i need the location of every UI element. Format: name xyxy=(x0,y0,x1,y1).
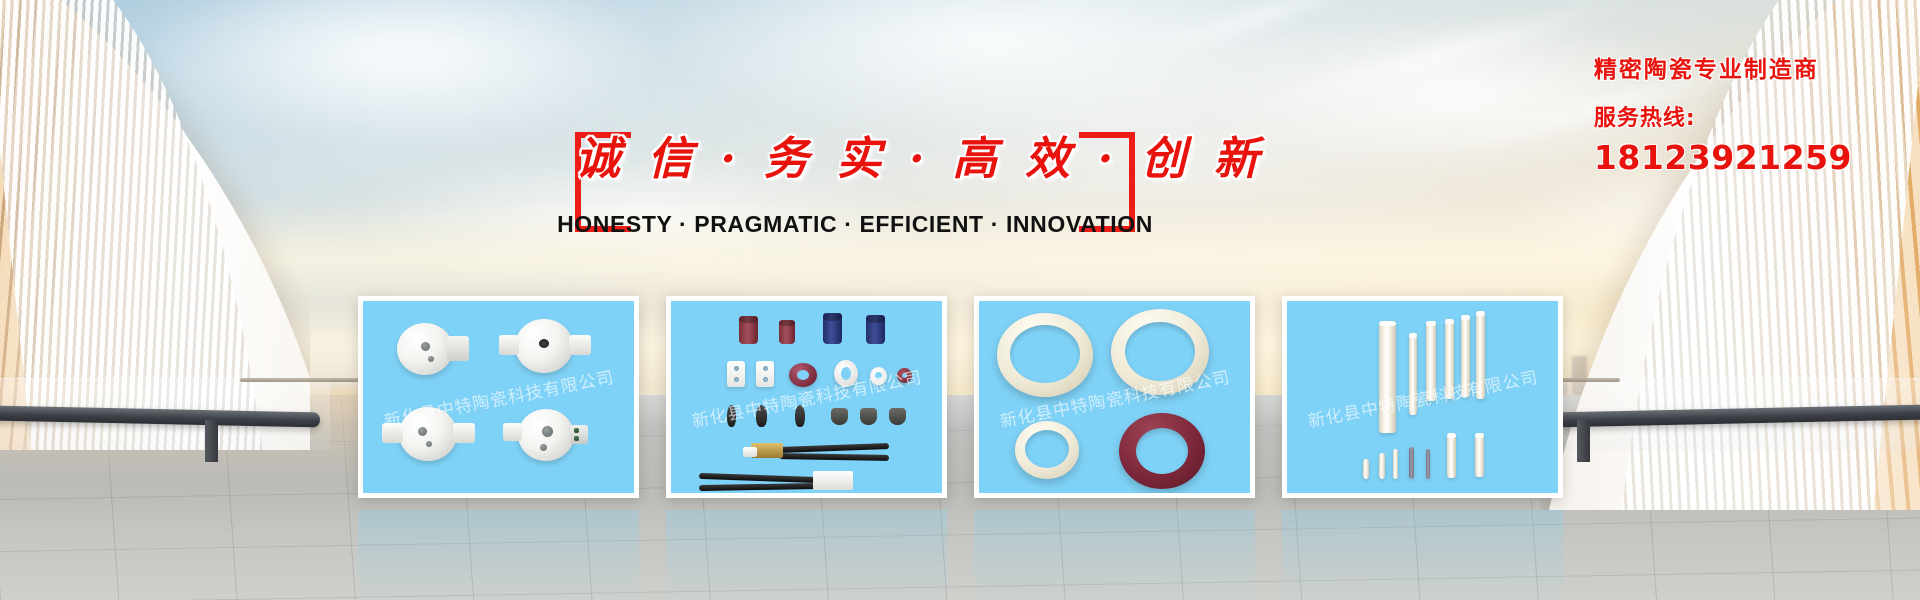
product-banner: 诚 信 · 务 实 · 高 效 · 创 新 HONESTY · PRAGMATI… xyxy=(0,0,1920,600)
company-tagline: 精密陶瓷专业制造商 xyxy=(1594,50,1852,84)
panel-reflection-1 xyxy=(358,510,639,600)
product-panel-row: 新化县中特陶瓷科技有限公司 xyxy=(358,296,1563,498)
contact-block: 精密陶瓷专业制造商 服务热线: 18123921259 xyxy=(1594,50,1852,177)
slogan-block: 诚 信 · 务 实 · 高 效 · 创 新 HONESTY · PRAGMATI… xyxy=(575,132,1135,232)
handrail-post-right xyxy=(1577,420,1590,462)
handrail-post-left xyxy=(205,420,218,462)
product-panel-components[interactable]: 新化县中特陶瓷科技有限公司 xyxy=(666,296,947,498)
hotline-label: 服务热线: xyxy=(1594,100,1852,132)
product-panel-rings[interactable]: 新化县中特陶瓷科技有限公司 xyxy=(974,296,1255,498)
slogan-chinese: 诚 信 · 务 实 · 高 效 · 创 新 xyxy=(575,122,1135,187)
panel-watermark-4: 新化县中特陶瓷科技有限公司 xyxy=(1287,357,1558,439)
product-panel-lamp-holders[interactable]: 新化县中特陶瓷科技有限公司 xyxy=(358,296,639,498)
panel-reflection-3 xyxy=(974,510,1255,600)
product-panel-rods[interactable]: 新化县中特陶瓷科技有限公司 xyxy=(1282,296,1563,498)
panel-reflection-2 xyxy=(666,510,947,600)
hotline-phone-number[interactable]: 18123921259 xyxy=(1594,138,1852,177)
panel-reflection-4 xyxy=(1282,510,1563,600)
slogan-english: HONESTY · PRAGMATIC · EFFICIENT · INNOVA… xyxy=(505,211,1205,238)
